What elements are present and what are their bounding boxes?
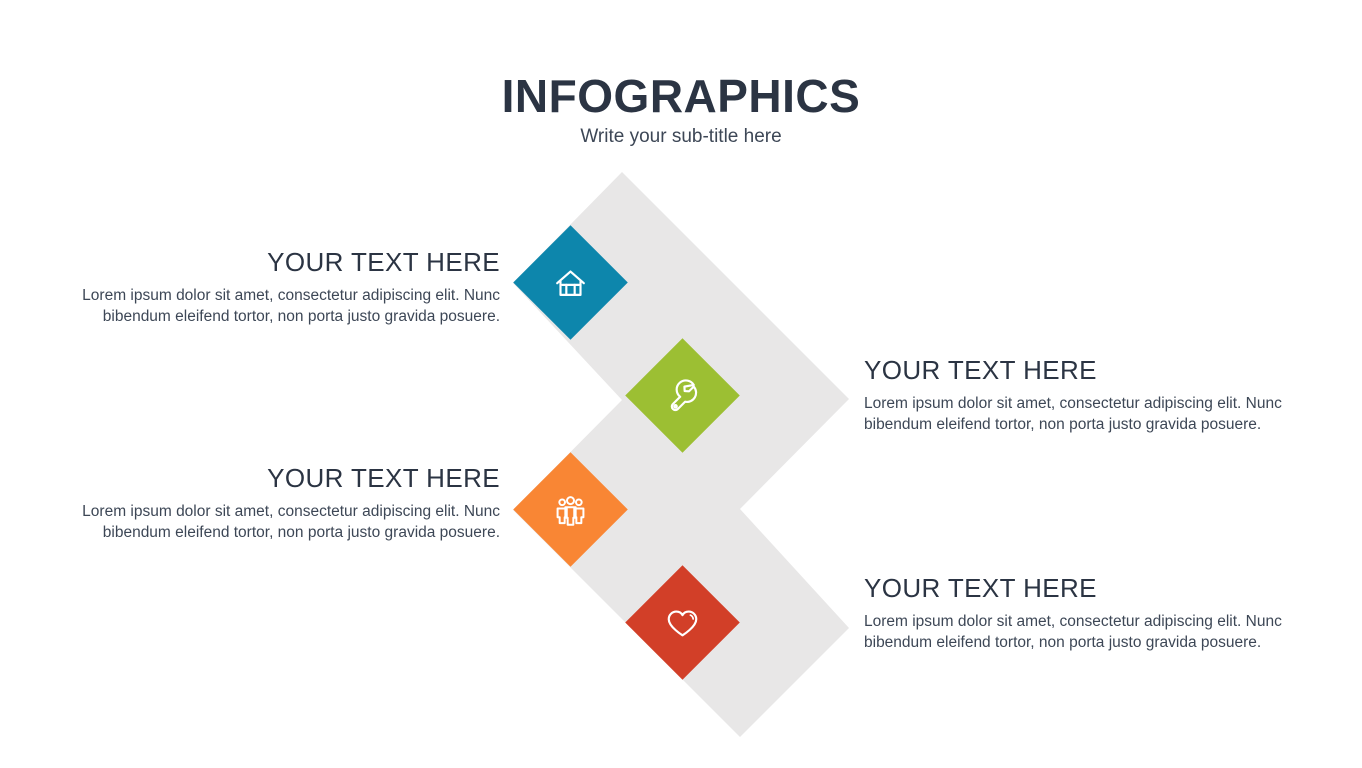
item-4-heading: YOUR TEXT HERE bbox=[864, 574, 1292, 604]
item-3-body: Lorem ipsum dolor sit amet, consectetur … bbox=[72, 502, 500, 544]
diamond-item-3[interactable] bbox=[513, 452, 628, 567]
diamond-item-4[interactable] bbox=[625, 565, 740, 680]
text-block-item-4: YOUR TEXT HERE Lorem ipsum dolor sit ame… bbox=[864, 574, 1292, 654]
item-2-heading: YOUR TEXT HERE bbox=[864, 356, 1292, 386]
item-3-heading: YOUR TEXT HERE bbox=[72, 464, 500, 494]
heart-icon bbox=[660, 600, 704, 644]
diamond-item-2[interactable] bbox=[625, 338, 740, 453]
item-1-heading: YOUR TEXT HERE bbox=[72, 248, 500, 278]
item-1-body: Lorem ipsum dolor sit amet, consectetur … bbox=[72, 286, 500, 328]
item-2-body: Lorem ipsum dolor sit amet, consectetur … bbox=[864, 394, 1292, 436]
slide-header: INFOGRAPHICS Write your sub-title here bbox=[0, 72, 1362, 148]
page-subtitle: Write your sub-title here bbox=[0, 126, 1362, 148]
home-icon bbox=[548, 260, 592, 304]
text-block-item-3: YOUR TEXT HERE Lorem ipsum dolor sit ame… bbox=[72, 464, 500, 544]
text-block-item-2: YOUR TEXT HERE Lorem ipsum dolor sit ame… bbox=[864, 356, 1292, 436]
wrench-icon bbox=[660, 373, 704, 417]
page-title: INFOGRAPHICS bbox=[0, 72, 1362, 120]
people-group-icon bbox=[548, 487, 592, 531]
diamond-item-1[interactable] bbox=[513, 225, 628, 340]
infographic-slide: INFOGRAPHICS Write your sub-title here bbox=[0, 0, 1362, 768]
item-4-body: Lorem ipsum dolor sit amet, consectetur … bbox=[864, 612, 1292, 654]
text-block-item-1: YOUR TEXT HERE Lorem ipsum dolor sit ame… bbox=[72, 248, 500, 328]
